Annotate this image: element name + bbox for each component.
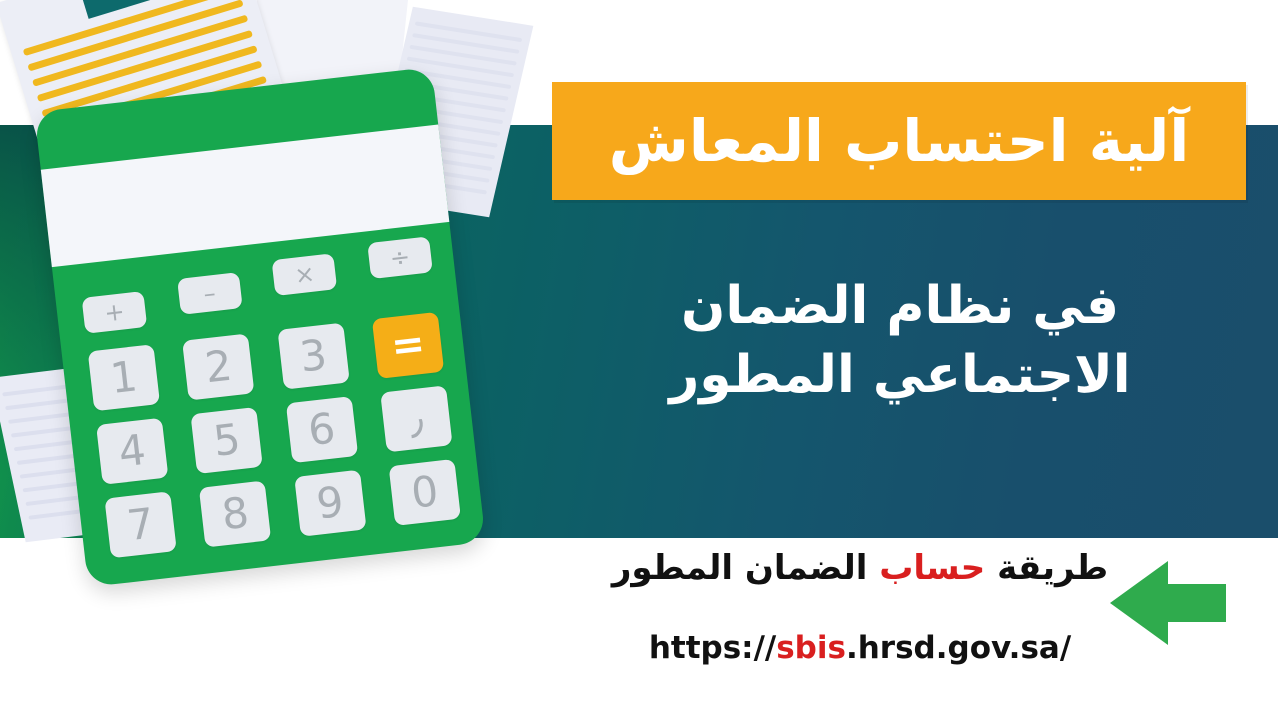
page-title: آلية احتساب المعاش [609,112,1189,170]
key-7[interactable]: 7 [104,491,176,558]
caption-suffix: الضمان المطور [612,548,879,588]
key-8[interactable]: 8 [199,480,271,547]
subtitle: في نظام الضمان الاجتماعي المطور [600,272,1200,409]
caption-highlight: حساب [879,548,985,588]
key-3[interactable]: 3 [277,323,349,390]
calculator-illustration: + – × ÷ 1 2 3 = 4 5 6 ٫ 7 8 9 0 [34,67,486,587]
url-scheme: https:// [649,630,776,666]
subtitle-line-1: في نظام الضمان [681,276,1119,336]
bottom-caption: طريقة حساب الضمان المطور [560,548,1160,588]
key-decimal-comma[interactable]: ٫ [380,385,452,452]
left-arrow-icon [1108,556,1230,648]
title-banner: آلية احتساب المعاش [552,82,1246,200]
website-url[interactable]: https://sbis.hrsd.gov.sa/ [560,630,1160,666]
caption-prefix: طريقة [985,548,1108,588]
key-divide[interactable]: ÷ [367,236,433,279]
key-5[interactable]: 5 [191,407,263,474]
key-equals[interactable]: = [372,312,444,379]
url-domain: .hrsd.gov.sa/ [846,630,1071,666]
key-minus[interactable]: – [177,272,243,315]
calculator-keypad: + – × ÷ 1 2 3 = 4 5 6 ٫ 7 8 9 0 [79,236,461,562]
key-2[interactable]: 2 [182,333,254,400]
key-plus[interactable]: + [82,291,148,334]
key-6[interactable]: 6 [285,396,357,463]
key-multiply[interactable]: × [272,253,338,296]
key-4[interactable]: 4 [96,418,168,485]
poster-canvas: + – × ÷ 1 2 3 = 4 5 6 ٫ 7 8 9 0 [0,0,1278,702]
subtitle-line-2: الاجتماعي المطور [600,341,1200,410]
key-0[interactable]: 0 [389,459,461,526]
key-1[interactable]: 1 [88,344,160,411]
url-subdomain-highlight: sbis [776,630,846,666]
key-9[interactable]: 9 [294,470,366,537]
